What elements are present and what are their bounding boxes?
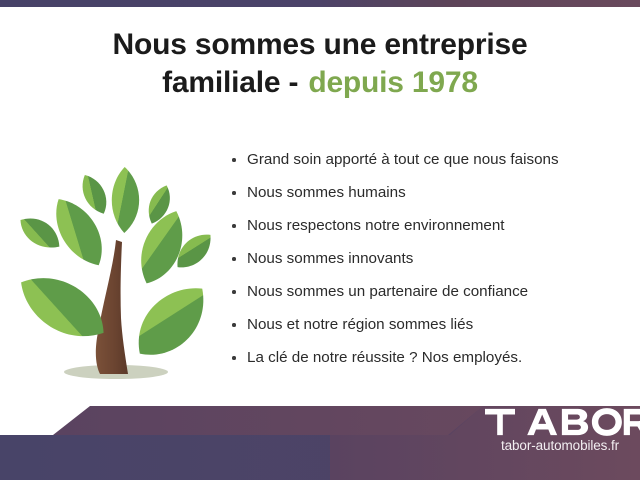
list-item-label: Nous sommes un partenaire de confiance: [247, 283, 528, 300]
bullet-dot-icon: [232, 290, 236, 294]
bullet-dot-icon: [232, 191, 236, 195]
page-title-line-2-green: depuis 1978: [308, 66, 478, 99]
list-item-label: Nous et notre région sommes liés: [247, 316, 473, 333]
list-item: Nous respectons notre environnement: [230, 216, 630, 236]
tree-illustration: [12, 150, 227, 390]
list-item-label: Nous sommes humains: [247, 184, 406, 201]
list-item: Grand soin apporté à tout ce que nous fa…: [230, 150, 630, 170]
list-item-label: Grand soin apporté à tout ce que nous fa…: [247, 151, 559, 168]
bullet-dot-icon: [232, 224, 236, 228]
list-item: Nous sommes un partenaire de confiance: [230, 282, 630, 302]
list-item: La clé de notre réussite ? Nos employés.: [230, 348, 630, 368]
bullet-dot-icon: [232, 158, 236, 162]
bullet-dot-icon: [232, 323, 236, 327]
list-item-label: Nous sommes innovants: [247, 250, 413, 267]
page-title: Nous sommes une entreprise familiale -de…: [0, 26, 640, 103]
bullet-dot-icon: [232, 257, 236, 261]
footer-bar: tabor-automobiles.fr: [0, 395, 640, 480]
list-item: Nous sommes humains: [230, 183, 630, 203]
bullet-dot-icon: [232, 356, 236, 360]
list-item: Nous et notre région sommes liés: [230, 315, 630, 335]
page-title-line-2-black: familiale -: [162, 66, 298, 99]
top-accent-bar: [0, 0, 640, 7]
list-item: Nous sommes innovants: [230, 249, 630, 269]
list-item-label: Nous respectons notre environnement: [247, 217, 505, 234]
tree-icon: [12, 150, 227, 390]
value-list: Grand soin apporté à tout ce que nous fa…: [230, 150, 630, 381]
page-title-line-2: familiale -depuis 1978: [0, 64, 640, 102]
footer-shape: [0, 395, 640, 480]
tree-trunk: [96, 240, 128, 374]
page-title-line-1: Nous sommes une entreprise: [0, 26, 640, 64]
list-item-label: La clé de notre réussite ? Nos employés.: [247, 349, 522, 366]
slide-canvas: Nous sommes une entreprise familiale -de…: [0, 0, 640, 480]
